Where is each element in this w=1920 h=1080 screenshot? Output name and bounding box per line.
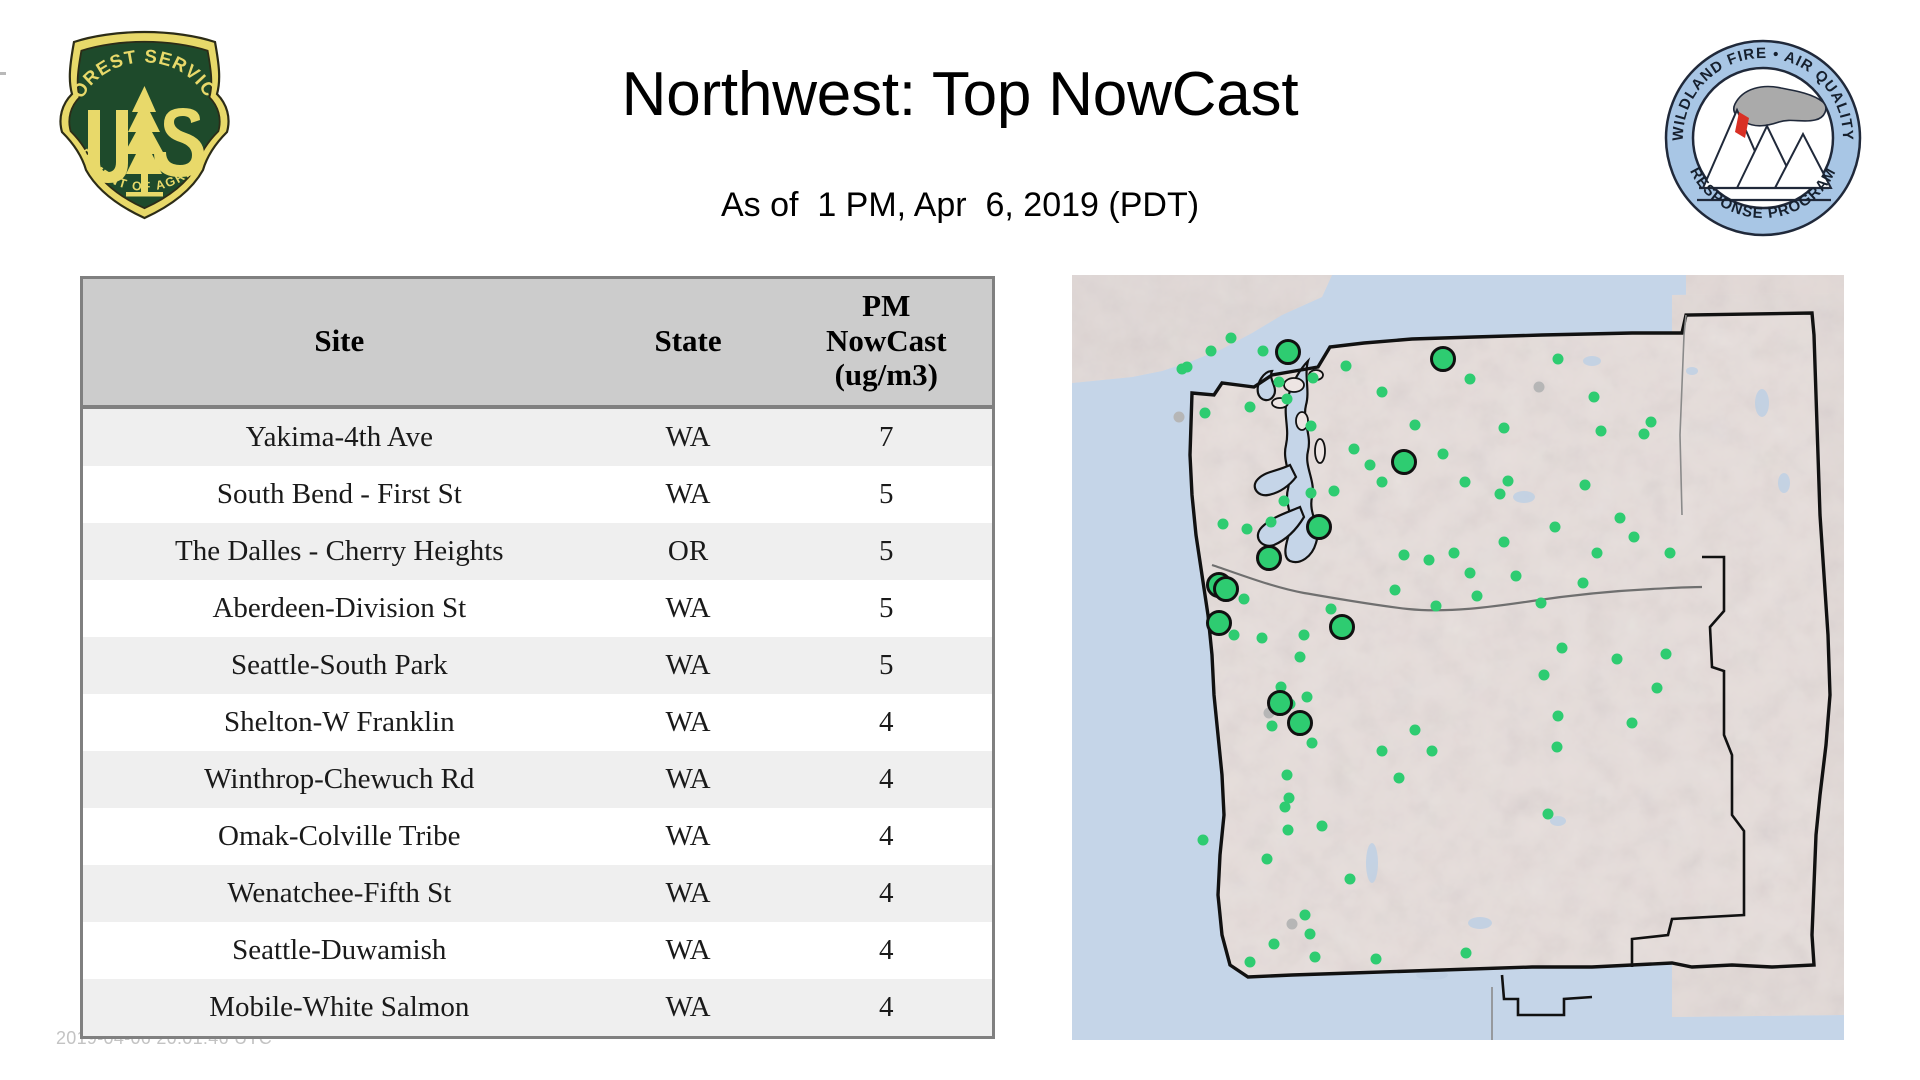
monitor-marker[interactable] <box>1615 513 1626 524</box>
monitor-marker-highlighted[interactable] <box>1306 514 1332 540</box>
monitor-marker[interactable] <box>1580 480 1591 491</box>
monitor-marker[interactable] <box>1364 459 1375 470</box>
state-cell: OR <box>596 523 781 580</box>
monitor-marker[interactable] <box>1665 548 1676 559</box>
monitor-marker[interactable] <box>1661 649 1672 660</box>
state-cell: WA <box>596 466 781 523</box>
state-cell: WA <box>596 407 781 466</box>
monitor-marker[interactable] <box>1348 444 1359 455</box>
monitor-marker[interactable] <box>1266 720 1277 731</box>
state-cell: WA <box>596 751 781 808</box>
monitor-marker[interactable] <box>1273 377 1284 388</box>
monitor-marker[interactable] <box>1591 548 1602 559</box>
column-header-state: State <box>596 279 781 407</box>
monitor-marker[interactable] <box>1472 591 1483 602</box>
table-row: South Bend - First StWA5 <box>83 466 992 523</box>
site-cell: Winthrop-Chewuch Rd <box>83 751 596 808</box>
column-header-pm-line2: NowCast <box>785 324 989 359</box>
table-row: Mobile-White SalmonWA4 <box>83 979 992 1036</box>
monitor-marker[interactable] <box>1595 426 1606 437</box>
slide-subtitle: As of 1 PM, Apr 6, 2019 (PDT) <box>300 186 1620 225</box>
state-cell: WA <box>596 808 781 865</box>
site-cell: Wenatchee-Fifth St <box>83 865 596 922</box>
monitor-marker[interactable] <box>1398 549 1409 560</box>
monitor-marker[interactable] <box>1389 585 1400 596</box>
monitor-marker[interactable] <box>1409 725 1420 736</box>
monitor-marker[interactable] <box>1639 429 1650 440</box>
value-cell: 4 <box>781 865 993 922</box>
table-row: Shelton-W FranklinWA4 <box>83 694 992 751</box>
monitor-marker[interactable] <box>1464 374 1475 385</box>
monitor-marker[interactable] <box>1557 643 1568 654</box>
monitor-marker-offline[interactable] <box>1173 411 1184 422</box>
monitor-marker[interactable] <box>1426 745 1437 756</box>
monitor-marker[interactable] <box>1459 477 1470 488</box>
slide-edge-marker <box>0 72 6 75</box>
monitor-marker[interactable] <box>1307 373 1318 384</box>
monitor-marker[interactable] <box>1371 953 1382 964</box>
monitor-marker[interactable] <box>1182 361 1193 372</box>
monitor-marker[interactable] <box>1449 547 1460 558</box>
monitor-marker[interactable] <box>1281 769 1292 780</box>
wfaqrp-logo: WILDLAND FIRE • AIR QUALITY RESPONSE PRO… <box>1663 38 1863 238</box>
monitor-marker[interactable] <box>1199 407 1210 418</box>
site-cell: Shelton-W Franklin <box>83 694 596 751</box>
value-cell: 4 <box>781 751 993 808</box>
monitor-marker[interactable] <box>1229 629 1240 640</box>
monitor-marker[interactable] <box>1266 517 1277 528</box>
monitor-marker[interactable] <box>1299 630 1310 641</box>
monitor-marker[interactable] <box>1257 345 1268 356</box>
slide-title: Northwest: Top NowCast <box>300 62 1620 127</box>
site-cell: Mobile-White Salmon <box>83 979 596 1036</box>
slide-canvas: FOREST SERVICE DEPARTMENT OF AGRICULTURE… <box>0 0 1920 1080</box>
column-header-site: Site <box>83 279 596 407</box>
monitor-marker[interactable] <box>1279 495 1290 506</box>
monitor-marker-offline[interactable] <box>1287 919 1298 930</box>
monitor-marker[interactable] <box>1205 345 1216 356</box>
monitor-marker[interactable] <box>1294 651 1305 662</box>
monitor-marker-highlighted[interactable] <box>1329 614 1355 640</box>
monitor-marker[interactable] <box>1503 475 1514 486</box>
value-cell: 5 <box>781 637 993 694</box>
monitor-marker[interactable] <box>1341 361 1352 372</box>
site-cell: South Bend - First St <box>83 466 596 523</box>
monitor-marker-highlighted[interactable] <box>1206 610 1232 636</box>
monitor-marker[interactable] <box>1499 423 1510 434</box>
monitor-marker[interactable] <box>1495 488 1506 499</box>
top-nowcast-table: Site State PM NowCast (ug/m3) Yakima-4th… <box>80 276 995 1039</box>
value-cell: 4 <box>781 922 993 979</box>
state-cell: WA <box>596 580 781 637</box>
monitor-marker[interactable] <box>1244 402 1255 413</box>
monitor-marker[interactable] <box>1539 670 1550 681</box>
table-row: Yakima-4th AveWA7 <box>83 407 992 466</box>
monitor-marker[interactable] <box>1627 718 1638 729</box>
monitor-marker[interactable] <box>1652 683 1663 694</box>
state-cell: WA <box>596 922 781 979</box>
monitor-marker[interactable] <box>1307 738 1318 749</box>
monitor-marker[interactable] <box>1510 571 1521 582</box>
monitor-marker[interactable] <box>1377 745 1388 756</box>
table-row: Winthrop-Chewuch RdWA4 <box>83 751 992 808</box>
table-row: Omak-Colville TribeWA4 <box>83 808 992 865</box>
table-row: The Dalles - Cherry HeightsOR5 <box>83 523 992 580</box>
table-row: Wenatchee-Fifth StWA4 <box>83 865 992 922</box>
monitor-marker-highlighted[interactable] <box>1275 339 1301 365</box>
value-cell: 5 <box>781 523 993 580</box>
monitor-marker[interactable] <box>1262 853 1273 864</box>
state-cell: WA <box>596 637 781 694</box>
monitor-marker[interactable] <box>1344 874 1355 885</box>
value-cell: 7 <box>781 407 993 466</box>
table-row: Aberdeen-Division StWA5 <box>83 580 992 637</box>
monitor-marker[interactable] <box>1283 825 1294 836</box>
monitor-marker[interactable] <box>1431 601 1442 612</box>
site-cell: The Dalles - Cherry Heights <box>83 523 596 580</box>
monitor-marker[interactable] <box>1376 387 1387 398</box>
monitor-marker-highlighted[interactable] <box>1256 545 1282 571</box>
monitor-marker[interactable] <box>1552 354 1563 365</box>
monitor-marker[interactable] <box>1244 956 1255 967</box>
table-row: Seattle-South ParkWA5 <box>83 637 992 694</box>
value-cell: 4 <box>781 979 993 1036</box>
monitor-marker[interactable] <box>1217 518 1228 529</box>
state-cell: WA <box>596 979 781 1036</box>
state-cell: WA <box>596 865 781 922</box>
monitor-marker[interactable] <box>1269 938 1280 949</box>
value-cell: 4 <box>781 808 993 865</box>
monitor-marker[interactable] <box>1612 654 1623 665</box>
value-cell: 5 <box>781 466 993 523</box>
column-header-pm-line1: PM <box>785 289 989 324</box>
monitor-marker[interactable] <box>1551 742 1562 753</box>
site-cell: Seattle-Duwamish <box>83 922 596 979</box>
monitor-marker[interactable] <box>1310 952 1321 963</box>
monitor-marker[interactable] <box>1283 793 1294 804</box>
monitor-marker[interactable] <box>1535 598 1546 609</box>
monitor-marker[interactable] <box>1198 834 1209 845</box>
monitor-marker[interactable] <box>1499 536 1510 547</box>
monitor-marker[interactable] <box>1306 421 1317 432</box>
monitor-marker[interactable] <box>1304 928 1315 939</box>
site-cell: Aberdeen-Division St <box>83 580 596 637</box>
site-cell: Seattle-South Park <box>83 637 596 694</box>
monitor-marker[interactable] <box>1300 910 1311 921</box>
value-cell: 5 <box>781 580 993 637</box>
site-cell: Yakima-4th Ave <box>83 407 596 466</box>
monitor-marker[interactable] <box>1301 692 1312 703</box>
table-header-row: Site State PM NowCast (ug/m3) <box>83 279 992 407</box>
state-cell: WA <box>596 694 781 751</box>
table-body: Yakima-4th AveWA7South Bend - First StWA… <box>83 407 992 1036</box>
monitor-marker-offline[interactable] <box>1534 381 1545 392</box>
monitor-marker[interactable] <box>1553 711 1564 722</box>
site-cell: Omak-Colville Tribe <box>83 808 596 865</box>
monitor-marker[interactable] <box>1328 485 1339 496</box>
monitor-marker[interactable] <box>1578 577 1589 588</box>
column-header-pm-line3: (ug/m3) <box>785 358 989 393</box>
monitor-dot-layer <box>1072 275 1844 1040</box>
monitor-marker[interactable] <box>1409 419 1420 430</box>
monitor-marker[interactable] <box>1306 488 1317 499</box>
monitor-marker[interactable] <box>1588 391 1599 402</box>
monitor-marker-highlighted[interactable] <box>1430 346 1456 372</box>
monitor-marker[interactable] <box>1464 567 1475 578</box>
value-cell: 4 <box>781 694 993 751</box>
monitor-marker[interactable] <box>1376 477 1387 488</box>
monitor-marker[interactable] <box>1256 633 1267 644</box>
monitor-marker[interactable] <box>1460 947 1471 958</box>
monitor-marker[interactable] <box>1325 603 1336 614</box>
monitor-marker[interactable] <box>1629 532 1640 543</box>
monitor-marker[interactable] <box>1226 332 1237 343</box>
monitor-marker[interactable] <box>1317 820 1328 831</box>
monitor-marker[interactable] <box>1542 808 1553 819</box>
column-header-pm-nowcast: PM NowCast (ug/m3) <box>781 279 993 407</box>
monitor-marker-highlighted[interactable] <box>1391 449 1417 475</box>
monitor-marker[interactable] <box>1239 593 1250 604</box>
monitor-marker-highlighted[interactable] <box>1287 710 1313 736</box>
monitor-marker[interactable] <box>1424 555 1435 566</box>
monitor-marker[interactable] <box>1646 416 1657 427</box>
monitor-marker[interactable] <box>1549 521 1560 532</box>
monitor-marker[interactable] <box>1394 772 1405 783</box>
monitor-marker[interactable] <box>1282 393 1293 404</box>
table-row: Seattle-DuwamishWA4 <box>83 922 992 979</box>
map-inner <box>1072 275 1844 1040</box>
forest-service-logo: FOREST SERVICE DEPARTMENT OF AGRICULTURE <box>52 28 237 223</box>
monitor-marker-highlighted[interactable] <box>1213 576 1239 602</box>
monitor-marker[interactable] <box>1242 523 1253 534</box>
monitor-marker[interactable] <box>1437 449 1448 460</box>
monitor-map-panel[interactable] <box>1072 275 1844 1040</box>
